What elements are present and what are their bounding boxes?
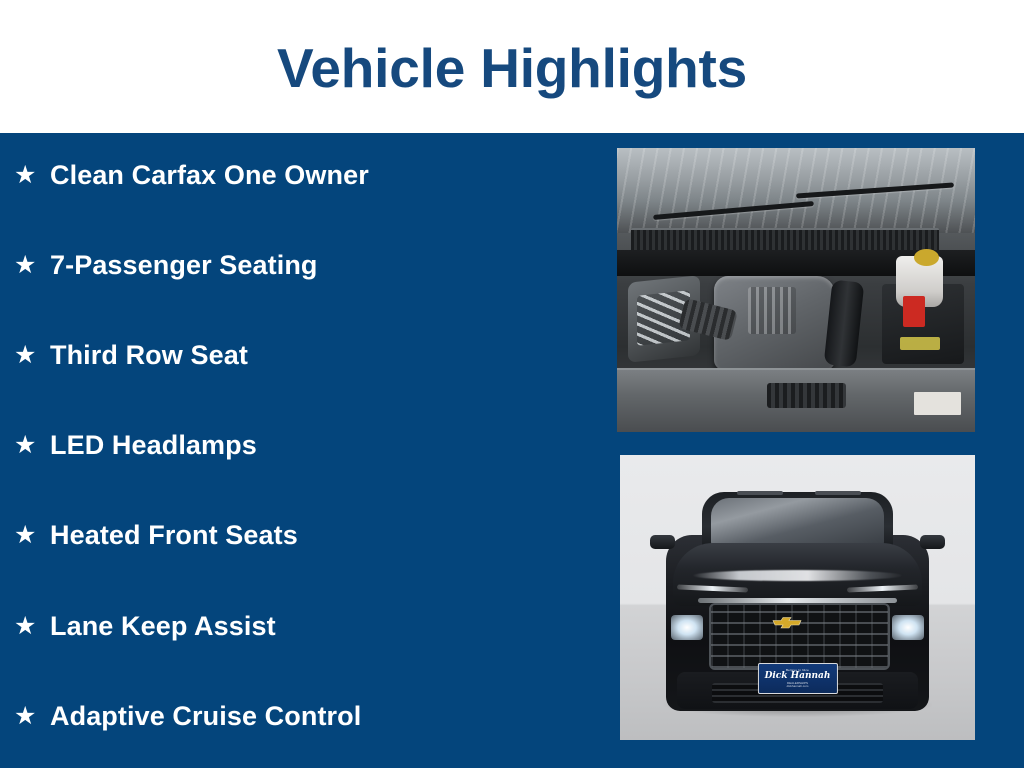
engine-bay-image bbox=[617, 148, 975, 432]
list-item: ★ Heated Front Seats bbox=[14, 517, 298, 553]
star-icon: ★ bbox=[14, 704, 50, 729]
headlight-right bbox=[892, 615, 924, 641]
vehicle-highlights-list: ★ Clean Carfax One Owner ★ 7-Passenger S… bbox=[0, 133, 600, 768]
star-icon: ★ bbox=[14, 433, 50, 458]
vehicle-front-image: Believe In Nice Dick Hannah DEALERSHIPS … bbox=[620, 455, 975, 740]
plate-url: dickhannah.com bbox=[787, 685, 809, 688]
battery-terminal-cover bbox=[903, 296, 924, 327]
list-item: ★ LED Headlamps bbox=[14, 427, 257, 463]
chevrolet-bowtie-logo bbox=[772, 616, 802, 629]
vehicle-front-photo: Believe In Nice Dick Hannah DEALERSHIPS … bbox=[620, 455, 975, 740]
star-icon: ★ bbox=[14, 253, 50, 278]
headlight-left bbox=[671, 615, 703, 641]
front-grille bbox=[709, 603, 891, 670]
list-item: ★ Adaptive Cruise Control bbox=[14, 698, 361, 734]
highlight-label: Adaptive Cruise Control bbox=[50, 702, 361, 730]
slide-header: Vehicle Highlights bbox=[0, 0, 1024, 133]
vehicle-highlights-slide: Vehicle Highlights ★ Clean Carfax One Ow… bbox=[0, 0, 1024, 768]
roof-rail bbox=[737, 491, 783, 495]
highlight-label: 7-Passenger Seating bbox=[50, 251, 318, 279]
list-item: ★ Clean Carfax One Owner bbox=[14, 157, 369, 193]
cowl-panel bbox=[617, 148, 975, 233]
side-mirror-left bbox=[650, 535, 675, 549]
star-icon: ★ bbox=[14, 523, 50, 548]
roof-rail bbox=[815, 491, 861, 495]
dealer-license-plate: Believe In Nice Dick Hannah DEALERSHIPS … bbox=[757, 663, 837, 694]
highlight-label: Lane Keep Assist bbox=[50, 612, 276, 640]
highlight-label: LED Headlamps bbox=[50, 431, 257, 459]
page-title: Vehicle Highlights bbox=[277, 41, 747, 96]
list-item: ★ 7-Passenger Seating bbox=[14, 247, 318, 283]
chrome-grille-bar bbox=[698, 598, 897, 603]
highlight-label: Third Row Seat bbox=[50, 341, 248, 369]
windshield bbox=[711, 498, 885, 546]
star-icon: ★ bbox=[14, 343, 50, 368]
oil-fill-cap bbox=[914, 249, 939, 266]
warning-label bbox=[914, 392, 961, 415]
star-icon: ★ bbox=[14, 163, 50, 188]
engine-bay-photo bbox=[617, 148, 975, 432]
highlight-label: Heated Front Seats bbox=[50, 521, 298, 549]
highlight-label: Clean Carfax One Owner bbox=[50, 161, 369, 189]
star-icon: ★ bbox=[14, 614, 50, 639]
side-mirror-right bbox=[920, 535, 945, 549]
hood bbox=[673, 543, 922, 606]
list-item: ★ Lane Keep Assist bbox=[14, 608, 276, 644]
slide-body: ★ Clean Carfax One Owner ★ 7-Passenger S… bbox=[0, 133, 1024, 768]
list-item: ★ Third Row Seat bbox=[14, 337, 248, 373]
